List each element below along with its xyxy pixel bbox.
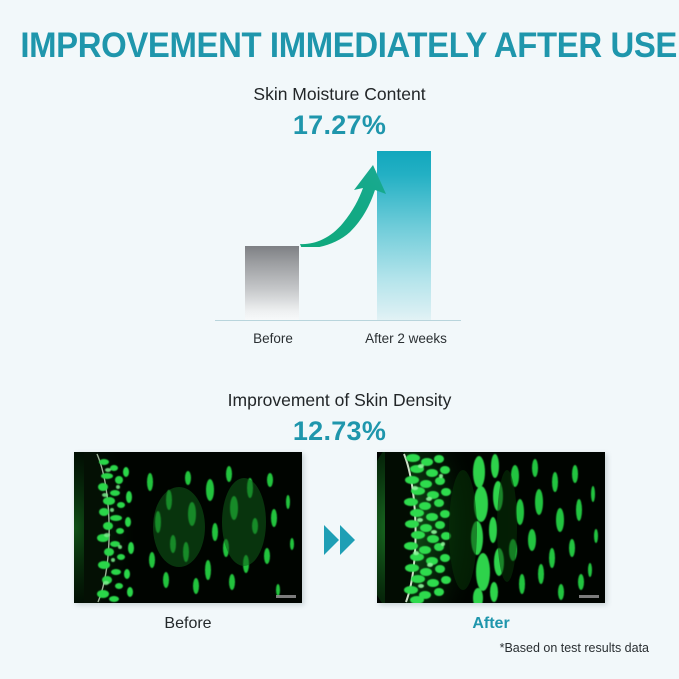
chart-axis-line — [215, 320, 461, 321]
micrograph-before — [74, 452, 302, 603]
bar-before — [245, 246, 299, 320]
page-title: IMPROVEMENT IMMEDIATELY AFTER USE — [20, 26, 658, 66]
micrograph-before-image — [74, 452, 302, 603]
moisture-value: 17.27% — [0, 110, 679, 141]
footnote: *Based on test results data — [377, 641, 649, 655]
double-chevron-right-icon — [321, 521, 359, 559]
axis-label-after: After 2 weeks — [347, 331, 465, 346]
axis-label-before: Before — [229, 331, 317, 346]
micrograph-after-image — [377, 452, 605, 603]
caption-after: After — [377, 615, 605, 633]
curved-up-arrow-icon — [297, 161, 389, 247]
density-value: 12.73% — [0, 416, 679, 447]
moisture-bar-chart: Before After 2 weeks — [213, 146, 463, 346]
infographic-page: IMPROVEMENT IMMEDIATELY AFTER USE Skin M… — [0, 0, 679, 679]
moisture-section-title: Skin Moisture Content — [0, 84, 679, 105]
caption-before: Before — [74, 615, 302, 633]
density-section-title: Improvement of Skin Density — [0, 390, 679, 411]
micrograph-after — [377, 452, 605, 603]
